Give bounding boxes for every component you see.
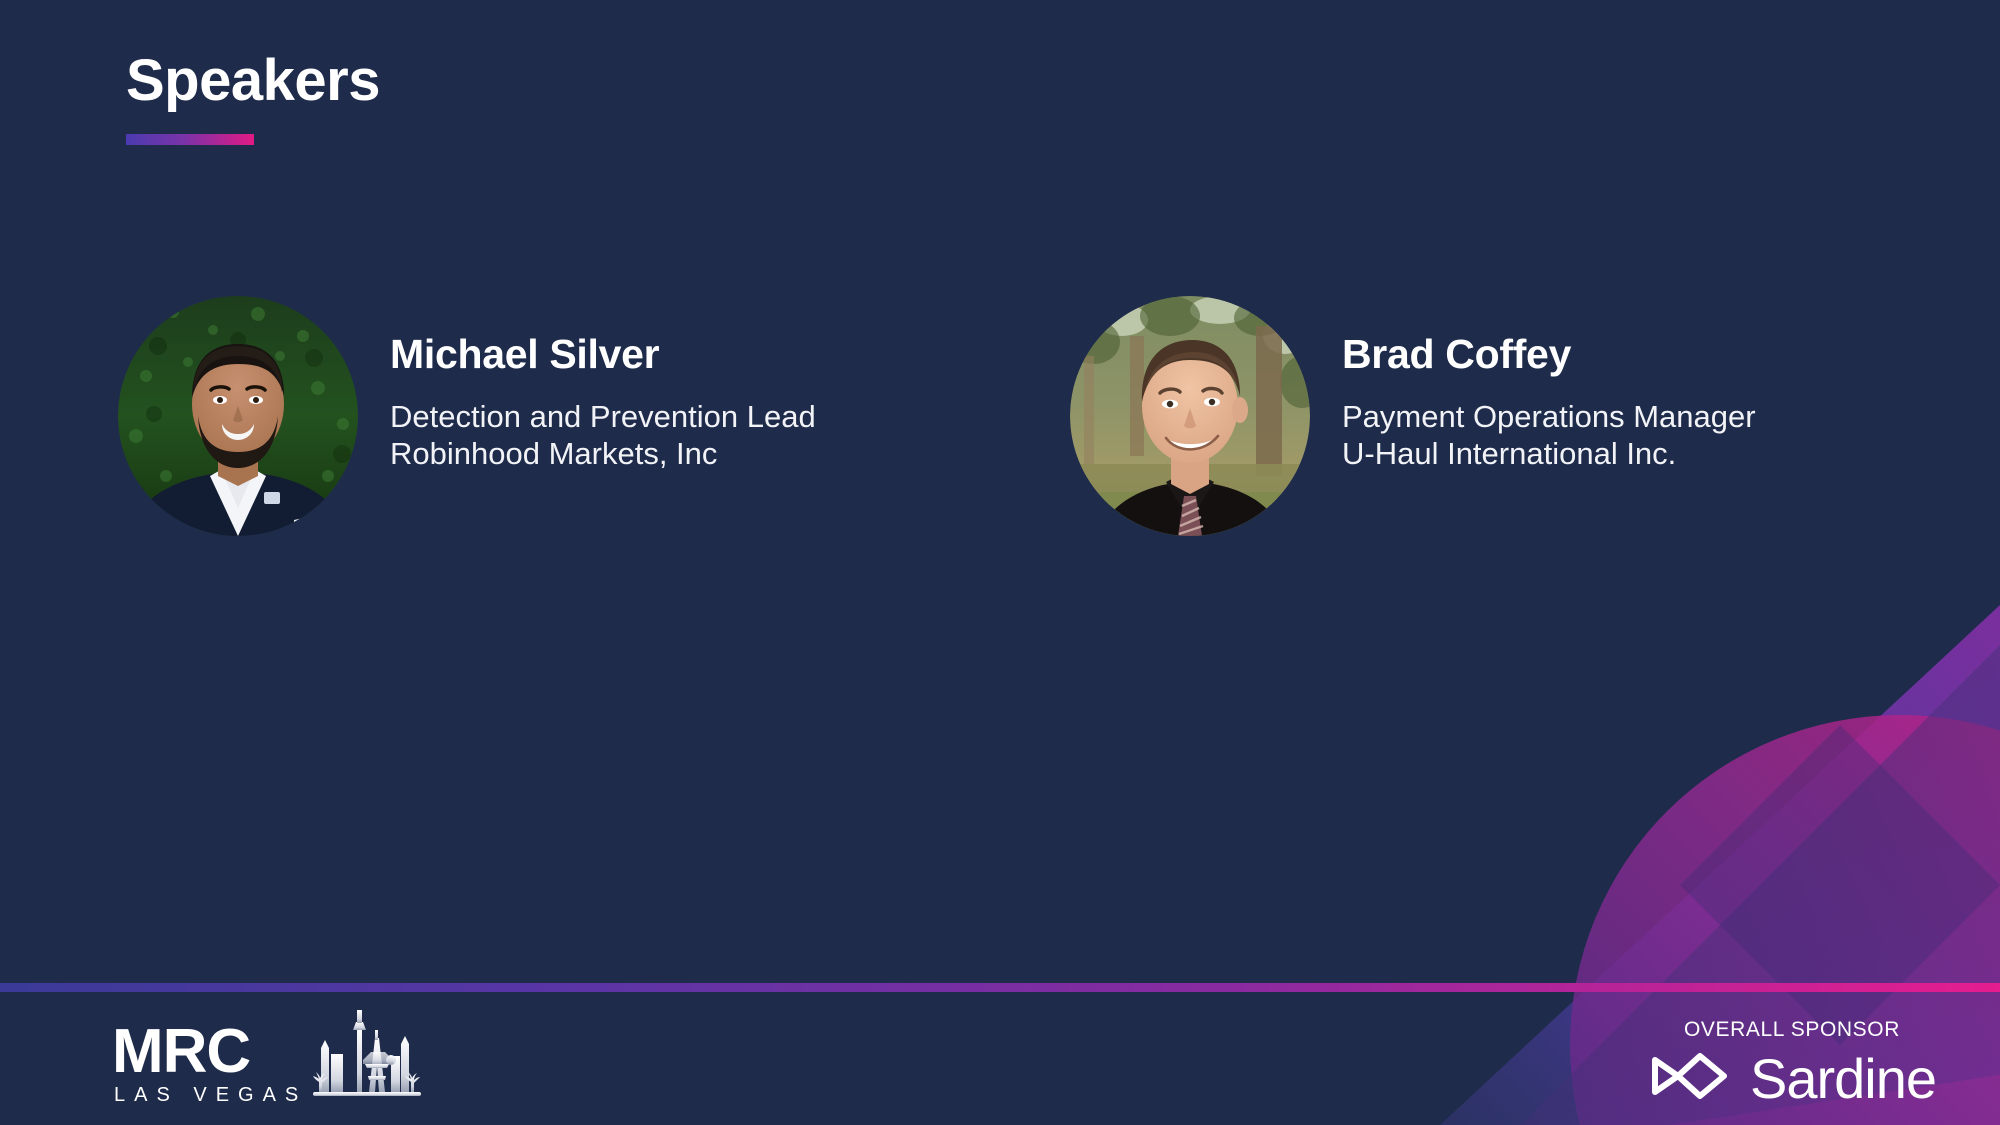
title-underline-accent (126, 134, 254, 145)
sardine-logo: Sardine (1648, 1048, 1936, 1109)
sponsor-label: OVERALL SPONSOR (1648, 1018, 1936, 1042)
speaker-card: Michael Silver Detection and Prevention … (118, 296, 918, 536)
speaker-name: Michael Silver (390, 332, 816, 377)
mrc-wordmark: MRC LAS VEGAS (112, 1023, 307, 1107)
speaker-organization: U-Haul International Inc. (1342, 436, 1756, 473)
speaker-role: Detection and Prevention Lead (390, 399, 816, 436)
speaker-role: Payment Operations Manager (1342, 399, 1756, 436)
mrc-logo-sub: LAS VEGAS (114, 1084, 307, 1107)
speakers-list: Michael Silver Detection and Prevention … (118, 296, 1878, 536)
avatar (1070, 296, 1310, 536)
speaker-organization: Robinhood Markets, Inc (390, 436, 816, 473)
sardine-mark-icon (1648, 1048, 1734, 1109)
sardine-wordmark: Sardine (1750, 1051, 1936, 1107)
speaker-card: Brad Coffey Payment Operations Manager U… (1070, 296, 1870, 536)
sponsor-block: OVERALL SPONSOR Sardine (1648, 1018, 1936, 1109)
mrc-logo-main: MRC (112, 1023, 250, 1080)
speaker-info: Brad Coffey Payment Operations Manager U… (1342, 296, 1756, 472)
las-vegas-skyline-icon (313, 1008, 421, 1105)
page-title: Speakers (126, 52, 380, 110)
mrc-las-vegas-logo: MRC LAS VEGAS (112, 1008, 421, 1107)
speaker-name: Brad Coffey (1342, 332, 1756, 377)
footer: MRC LAS VEGAS (0, 992, 2000, 1125)
speaker-info: Michael Silver Detection and Prevention … (390, 296, 816, 472)
footer-accent-bar (0, 983, 2000, 992)
title-block: Speakers (126, 52, 380, 145)
avatar (118, 296, 358, 536)
speakers-slide: Speakers (0, 0, 2000, 1125)
